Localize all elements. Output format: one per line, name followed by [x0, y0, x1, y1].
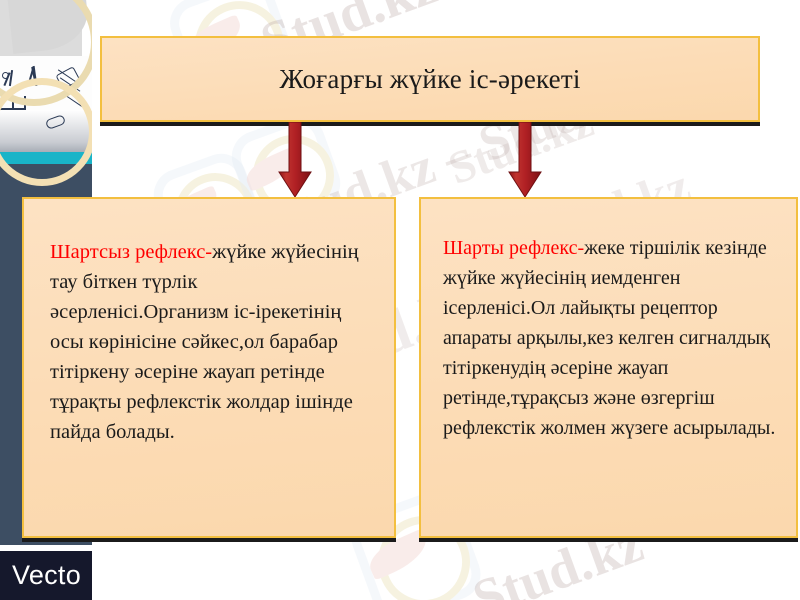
- sidebar-gold-ring-icon: [0, 78, 92, 186]
- conditioned-reflex-lead: Шарты рефлекс-: [443, 237, 584, 259]
- vector-badge-label: Vecto: [12, 560, 81, 591]
- conditioned-reflex-text: Шарты рефлекс-жеке тіршілік кезінде жүйк…: [435, 213, 782, 443]
- down-arrow-to-unconditioned-box: [278, 122, 312, 198]
- unconditioned-reflex-box: Шартсыз рефлекс-жүйке жүйесінің тау бітк…: [22, 197, 396, 538]
- title-box: Жоғарғы жүйке іс-әрекеті: [100, 36, 760, 122]
- conditioned-reflex-body: жеке тіршілік кезінде жүйке жүйесінің ие…: [443, 237, 775, 439]
- conditioned-reflex-box: Шарты рефлекс-жеке тіршілік кезінде жүйк…: [419, 197, 798, 538]
- unconditioned-reflex-lead: Шартсыз рефлекс-: [50, 241, 212, 263]
- unconditioned-reflex-body: жүйке жүйесінің тау біткен түрлік әсерле…: [50, 241, 359, 443]
- slide-canvas: Stud.kz Stud.kz – Stud.kz Stud.kz Stud.k…: [0, 0, 800, 600]
- vector-badge: Vecto: [0, 551, 92, 600]
- down-arrow-to-conditioned-box: [508, 122, 542, 198]
- page-title: Жоғарғы жүйке іс-әрекеті: [279, 64, 580, 95]
- unconditioned-reflex-text: Шартсыз рефлекс-жүйке жүйесінің тау бітк…: [38, 213, 380, 447]
